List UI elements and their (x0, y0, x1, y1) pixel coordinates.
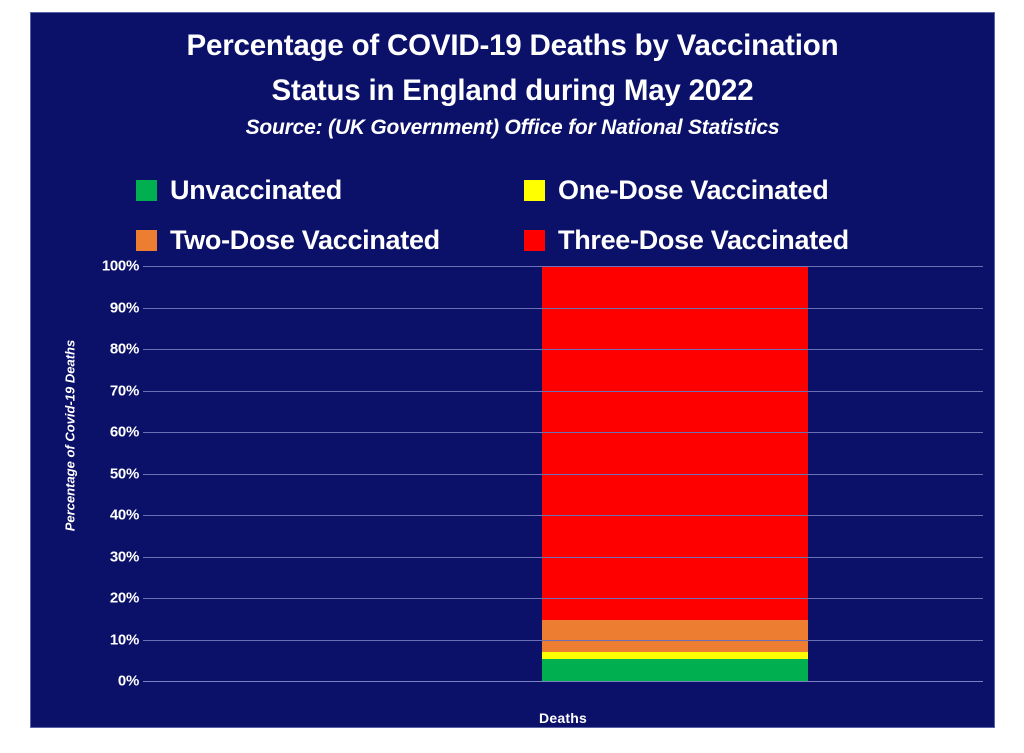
gridline-80 (143, 349, 983, 350)
y-tick-label-10: 10% (69, 631, 139, 648)
bar-segment-one-dose-vaccinated[interactable] (542, 652, 808, 659)
bar-segment-unvaccinated[interactable] (542, 659, 808, 681)
gridline-90 (143, 308, 983, 309)
y-tick-label-30: 30% (69, 548, 139, 565)
chart-panel: Percentage of COVID-19 Deaths by Vaccina… (30, 12, 995, 728)
gridline-10 (143, 640, 983, 641)
y-tick-label-70: 70% (69, 382, 139, 399)
plot-area: Percentage of Covid-19 Deaths 100%90%80%… (31, 13, 994, 727)
gridline-70 (143, 391, 983, 392)
gridline-100 (143, 266, 983, 267)
y-tick-label-100: 100% (69, 258, 139, 275)
y-tick-label-60: 60% (69, 424, 139, 441)
gridline-40 (143, 515, 983, 516)
y-tick-label-40: 40% (69, 507, 139, 524)
gridline-60 (143, 432, 983, 433)
bar-segment-three-dose-vaccinated[interactable] (542, 266, 808, 620)
y-tick-label-90: 90% (69, 299, 139, 316)
gridline-50 (143, 474, 983, 475)
x-axis-category-label: Deaths (430, 710, 696, 726)
y-tick-label-0: 0% (69, 673, 139, 690)
bar-segment-two-dose-vaccinated[interactable] (542, 620, 808, 652)
gridline-0 (143, 681, 983, 682)
y-tick-label-20: 20% (69, 590, 139, 607)
gridline-30 (143, 557, 983, 558)
y-axis-tick-labels: 100%90%80%70%60%50%40%30%20%10%0% (61, 13, 139, 729)
gridlines (143, 13, 983, 729)
gridline-20 (143, 598, 983, 599)
y-tick-label-50: 50% (69, 465, 139, 482)
y-tick-label-80: 80% (69, 341, 139, 358)
